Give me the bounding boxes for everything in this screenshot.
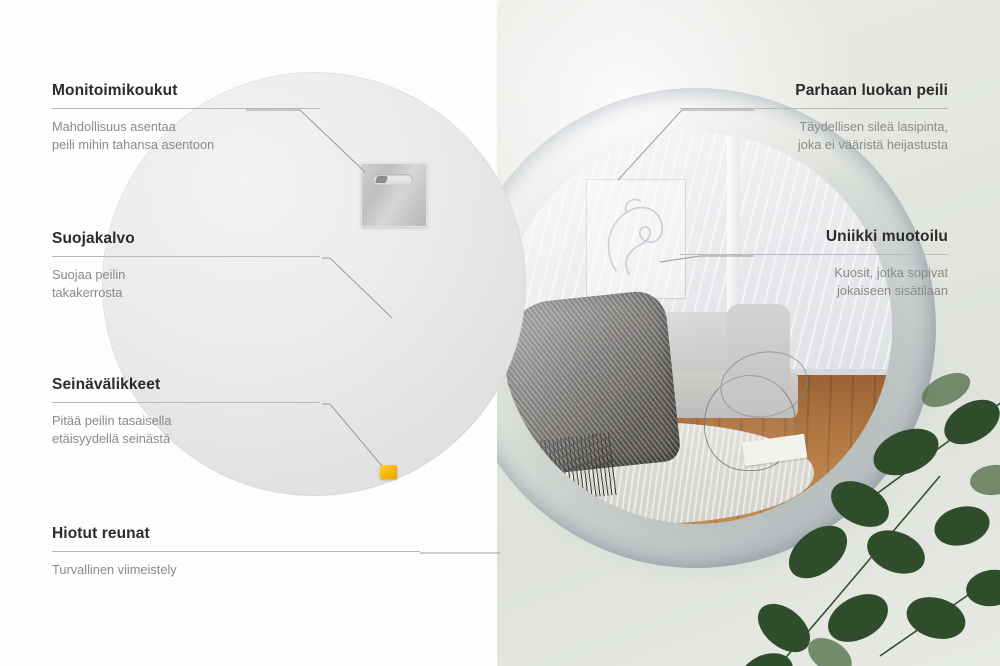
callout-desc-line1: Täydellisen sileä lasipinta, bbox=[680, 118, 948, 136]
callout-divider bbox=[52, 256, 320, 257]
callout-desc-line2: takakerrosta bbox=[52, 284, 320, 302]
foliage-decoration bbox=[710, 356, 1000, 666]
hanger-keyhole-slot bbox=[373, 174, 413, 185]
callout-desc-line1: Turvallinen viimeistely bbox=[52, 561, 320, 579]
callout-desc-line1: Kuosit, jotka sopivat bbox=[680, 264, 948, 282]
callout-title: Monitoimikoukut bbox=[52, 82, 320, 100]
callout-polished-edges: Hiotut reunat Turvallinen viimeistely bbox=[52, 525, 320, 579]
callout-divider bbox=[680, 254, 948, 255]
callout-desc-line2: etäisyydellä seinästä bbox=[52, 430, 320, 448]
callout-title: Parhaan luokan peili bbox=[680, 82, 948, 100]
callout-desc-line2: jokaiseen sisätilaan bbox=[680, 282, 948, 300]
callout-desc-line1: Mahdollisuus asentaa bbox=[52, 118, 320, 136]
wall-spacer bbox=[380, 465, 397, 479]
callout-hooks: Monitoimikoukut Mahdollisuus asentaa pei… bbox=[52, 82, 320, 154]
callout-protective-film: Suojakalvo Suojaa peilin takakerrosta bbox=[52, 230, 320, 302]
callout-desc-line2: peili mihin tahansa asentoon bbox=[52, 136, 320, 154]
callout-divider bbox=[52, 108, 320, 109]
callout-title: Seinävälikkeet bbox=[52, 376, 320, 394]
callout-desc-line2: joka ei vääristä heijastusta bbox=[680, 136, 948, 154]
callout-divider bbox=[52, 551, 420, 552]
callout-desc-line1: Pitää peilin tasaisella bbox=[52, 412, 320, 430]
callout-divider bbox=[52, 402, 320, 403]
callout-wall-spacers: Seinävälikkeet Pitää peilin tasaisella e… bbox=[52, 376, 320, 448]
callout-title: Uniikki muotoilu bbox=[680, 228, 948, 246]
hanger-bracket bbox=[361, 163, 427, 227]
callout-premium-mirror: Parhaan luokan peili Täydellisen sileä l… bbox=[680, 82, 948, 154]
callout-title: Suojakalvo bbox=[52, 230, 320, 248]
callout-unique-design: Uniikki muotoilu Kuosit, jotka sopivat j… bbox=[680, 228, 948, 300]
callout-title: Hiotut reunat bbox=[52, 525, 320, 543]
callout-divider bbox=[680, 108, 948, 109]
callout-desc-line1: Suojaa peilin bbox=[52, 266, 320, 284]
infographic-stage: Monitoimikoukut Mahdollisuus asentaa pei… bbox=[0, 0, 1000, 666]
